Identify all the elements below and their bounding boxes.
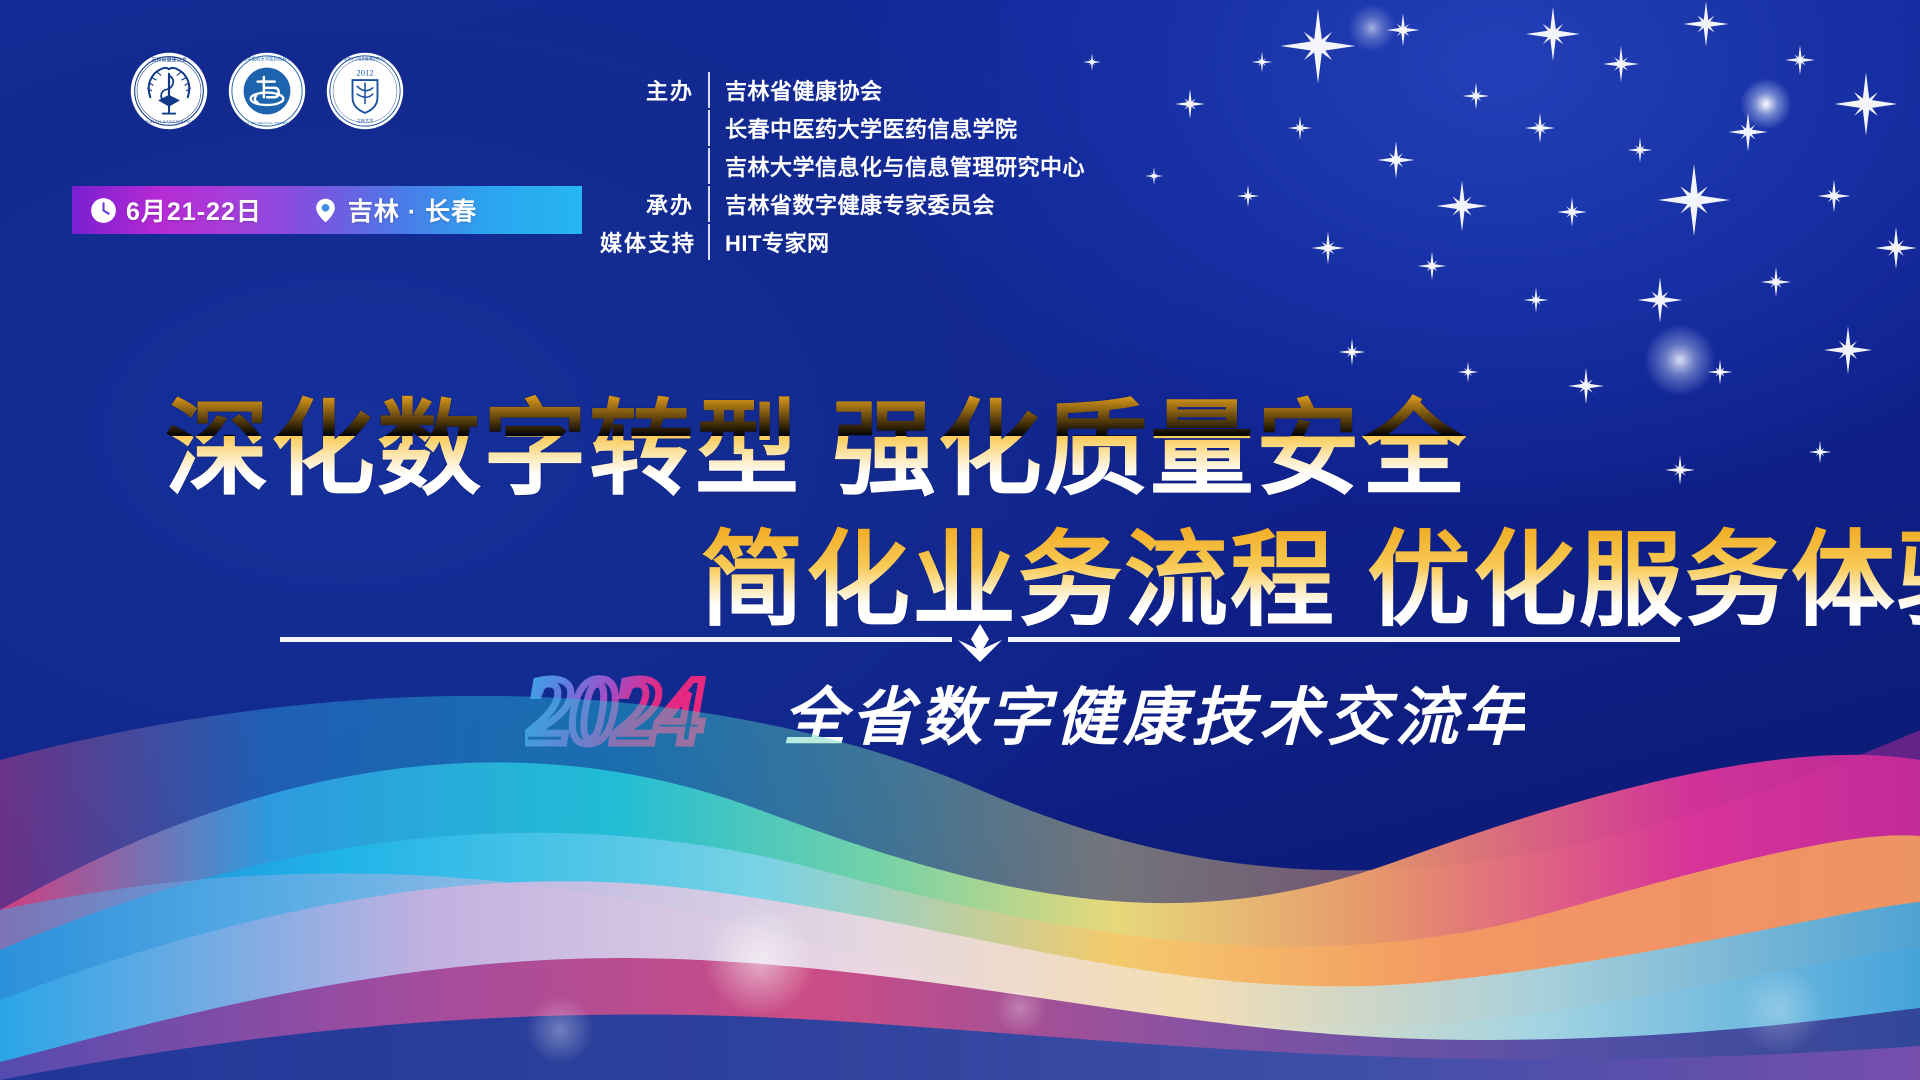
organizer-label: 承办 — [600, 188, 708, 220]
jilin-health-association-logo: 吉林省健康协会 HEALTH ASSOCIATION — [130, 52, 208, 130]
date-text: 6月21-22日 — [126, 192, 262, 228]
conference-banner: 吉林省健康协会 HEALTH ASSOCIATION 长春中医药大学医药信息学院… — [0, 0, 1920, 1080]
organizer-divider — [708, 72, 710, 108]
svg-text:HEALTH ASSOCIATION: HEALTH ASSOCIATION — [143, 119, 195, 124]
organizer-row: 吉林大学信息化与信息管理研究中心 — [600, 148, 1085, 184]
organizer-value: 吉林省数字健康专家委员会 — [725, 188, 995, 220]
svg-text:2012: 2012 — [356, 67, 373, 77]
svg-text:吉林大学: 吉林大学 — [357, 117, 374, 124]
headline-line-1-svg: 深化数字转型 强化质量安全 — [0, 385, 1920, 510]
organizer-value: 吉林省健康协会 — [725, 74, 883, 106]
organizer-label: 主办 — [600, 74, 708, 106]
location-text: 吉林 · 长春 — [348, 192, 477, 228]
headline-block: 深化数字转型 强化质量安全 简化业务流程 优化服务体验 — [0, 385, 1920, 641]
organizer-divider — [708, 186, 710, 222]
organizer-row: 媒体支持 HIT专家网 — [600, 224, 1085, 260]
svg-text:长春中医药大学医药信息学院: 长春中医药大学医药信息学院 — [239, 56, 296, 63]
changchun-tcm-university-logo: 长春中医药大学医药信息学院 SCHOOL OF MEDICAL INFORMAT… — [228, 52, 306, 130]
svg-text:吉林省健康协会: 吉林省健康协会 — [151, 56, 186, 63]
svg-text:信息化与信息管理研究中心: 信息化与信息管理研究中心 — [344, 56, 387, 61]
organizer-value: HIT专家网 — [725, 226, 829, 258]
date-segment: 6月21-22日 — [90, 192, 262, 228]
clock-icon — [90, 197, 117, 224]
jilin-university-center-logo: 2012 信息化与信息管理研究中心 吉林大学 — [326, 52, 404, 130]
organizer-divider — [708, 148, 710, 184]
organizer-row: 承办 吉林省数字健康专家委员会 — [600, 186, 1085, 222]
date-location-bar: 6月21-22日 吉林 · 长春 — [72, 186, 582, 234]
organizer-row: 长春中医药大学医药信息学院 — [600, 110, 1085, 146]
headline-line-1: 深化数字转型 强化质量安全 — [165, 392, 1468, 508]
organizer-divider — [708, 224, 710, 260]
organizer-divider — [708, 110, 710, 146]
organizer-logos: 吉林省健康协会 HEALTH ASSOCIATION 长春中医药大学医药信息学院… — [130, 52, 404, 130]
map-pin-icon — [312, 197, 339, 224]
svg-text:SCHOOL OF MEDICAL INFORMATION: SCHOOL OF MEDICAL INFORMATION — [235, 121, 299, 125]
organizer-row: 主办 吉林省健康协会 — [600, 72, 1085, 108]
organizer-value: 长春中医药大学医药信息学院 — [725, 112, 1018, 144]
organizer-value: 吉林大学信息化与信息管理研究中心 — [725, 150, 1085, 182]
location-segment: 吉林 · 长春 — [312, 192, 477, 228]
organizer-label: 媒体支持 — [600, 226, 708, 258]
wave-ribbon-decoration — [0, 610, 1920, 1080]
organizer-credits: 主办 吉林省健康协会 长春中医药大学医药信息学院 吉林大学信息化与信息管理研究中… — [600, 72, 1085, 260]
